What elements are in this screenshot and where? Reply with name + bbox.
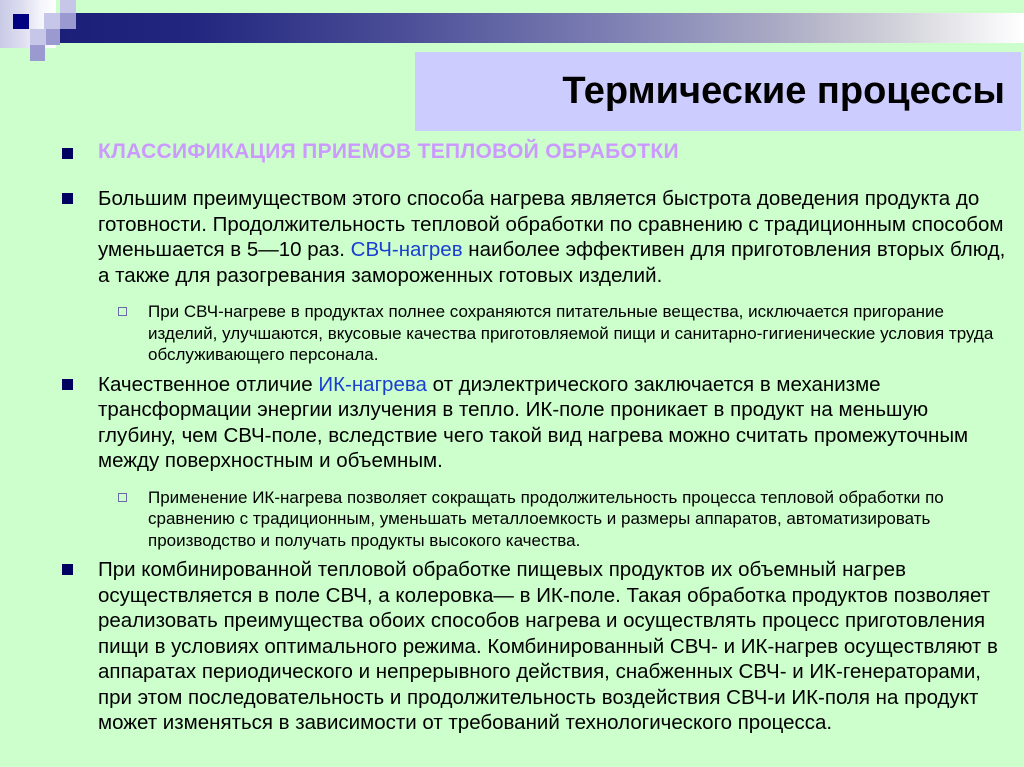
- bullet-list: Большим преимуществом этого способа нагр…: [0, 186, 1024, 736]
- highlighted-term: СВЧ-нагрев: [351, 238, 463, 261]
- page-title: Термические процессы: [562, 70, 1005, 113]
- band-gradient-bar: [58, 13, 1024, 43]
- bullet-item-level1: При комбинированной тепловой обработке п…: [0, 557, 1024, 736]
- bullet-item-level1: Большим преимуществом этого способа нагр…: [0, 186, 1024, 288]
- square-bullet-icon: [62, 148, 73, 159]
- highlighted-term: ИК-нагрева: [318, 373, 427, 396]
- bullet-text: Применение ИК-нагрева позволяет сокращат…: [148, 487, 1006, 552]
- text-run: Качественное отличие: [98, 373, 318, 396]
- bullet-text: При комбинированной тепловой обработке п…: [98, 557, 1006, 736]
- bullet-item-level2: Применение ИК-нагрева позволяет сокращат…: [0, 487, 1024, 552]
- deco-square-d: [46, 29, 60, 45]
- deco-square-b: [60, 13, 76, 29]
- section-heading-row: КЛАССИФИКАЦИЯ ПРИЕМОВ ТЕПЛОВОЙ ОБРАБОТКИ: [0, 138, 1024, 166]
- text-run: При СВЧ-нагреве в продуктах полнее сохра…: [148, 302, 993, 364]
- deco-square-navy: [13, 14, 29, 29]
- section-heading: КЛАССИФИКАЦИЯ ПРИЕМОВ ТЕПЛОВОЙ ОБРАБОТКИ: [98, 138, 1006, 166]
- slide-title-box: Термические процессы: [415, 52, 1021, 131]
- square-bullet-icon: [62, 193, 73, 204]
- bullet-item-level1: Качественное отличие ИК-нагрева от диэле…: [0, 372, 1024, 474]
- text-run: При комбинированной тепловой обработке п…: [98, 558, 998, 734]
- deco-square-a: [44, 13, 60, 29]
- bullet-text: Качественное отличие ИК-нагрева от диэле…: [98, 372, 1006, 474]
- hollow-square-bullet-icon: [118, 307, 127, 316]
- deco-square-c: [30, 29, 46, 45]
- square-bullet-icon: [62, 564, 73, 575]
- hollow-square-bullet-icon: [118, 493, 127, 502]
- square-bullet-icon: [62, 379, 73, 390]
- bullet-text: Большим преимуществом этого способа нагр…: [98, 186, 1006, 288]
- text-run: Применение ИК-нагрева позволяет сокращат…: [148, 488, 944, 550]
- slide-content: КЛАССИФИКАЦИЯ ПРИЕМОВ ТЕПЛОВОЙ ОБРАБОТКИ…: [0, 138, 1024, 738]
- deco-square-top: [60, 0, 76, 13]
- bullet-item-level2: При СВЧ-нагреве в продуктах полнее сохра…: [0, 301, 1024, 366]
- spacer: [0, 476, 1024, 481]
- bullet-text: При СВЧ-нагреве в продуктах полнее сохра…: [148, 301, 1006, 366]
- spacer: [0, 290, 1024, 295]
- deco-square-e: [30, 45, 45, 61]
